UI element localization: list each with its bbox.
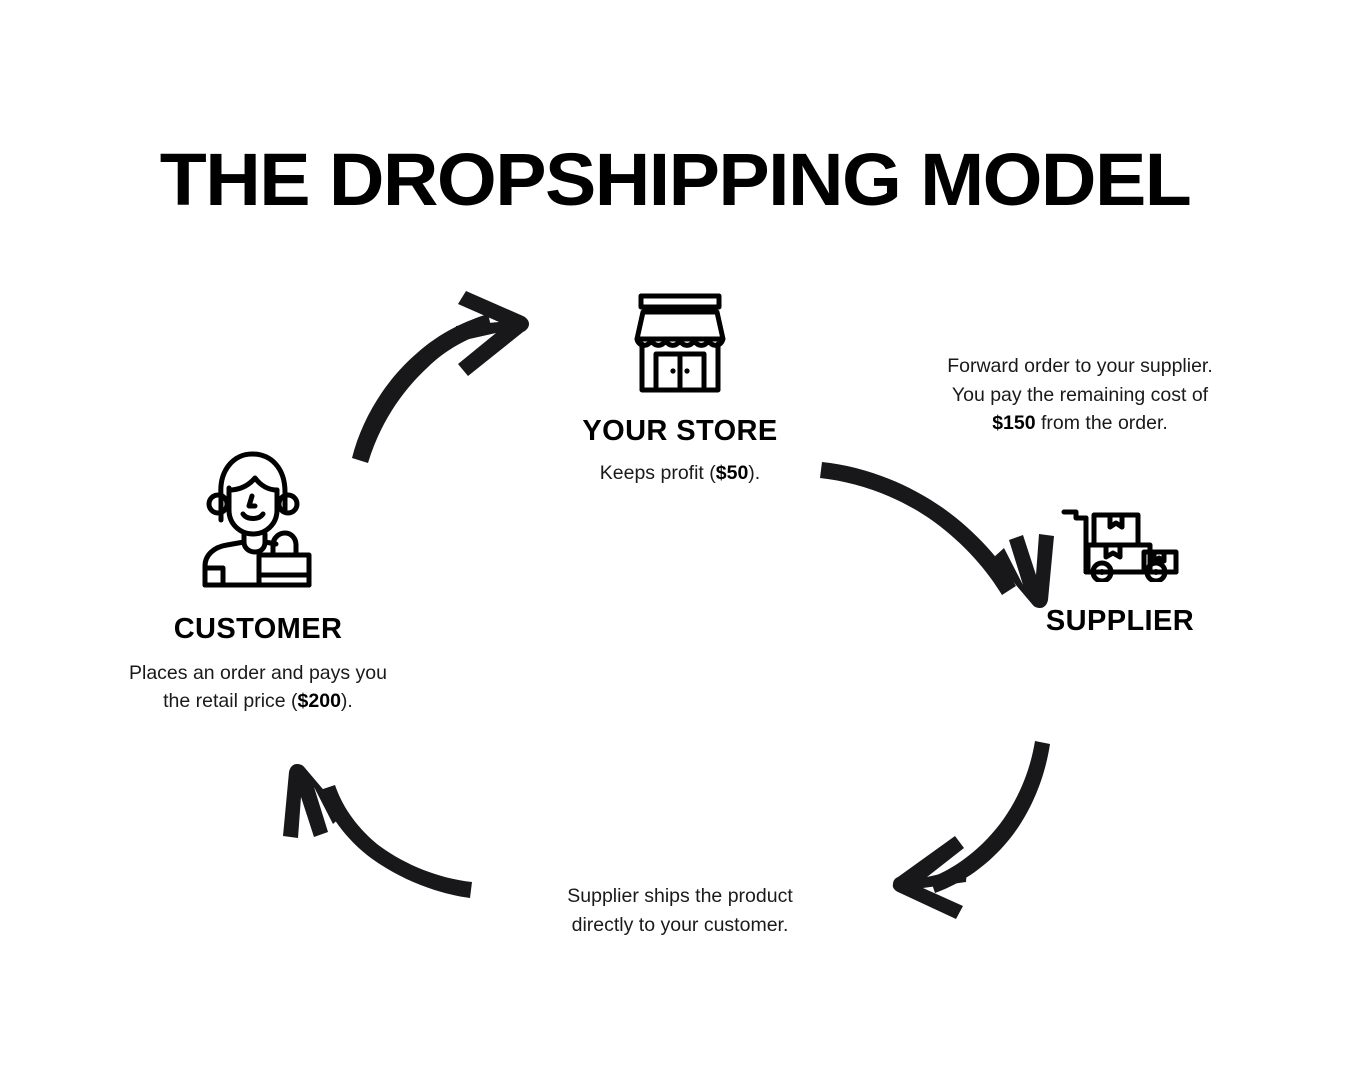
node-supplier: SUPPLIER bbox=[975, 506, 1265, 638]
shipping-note: Supplier ships the productdirectly to yo… bbox=[505, 882, 855, 939]
supplier-note-line1: Forward order to your supplier. bbox=[947, 355, 1213, 377]
store-label: YOUR STORE bbox=[515, 414, 845, 448]
storefront-icon bbox=[630, 292, 730, 394]
store-profit-amount: $50 bbox=[716, 462, 749, 484]
shipping-note-line2: directly to your customer. bbox=[572, 914, 789, 936]
customer-description: Places an order and pays youthe retail p… bbox=[88, 659, 428, 715]
shipping-note-line1: Supplier ships the product bbox=[567, 885, 792, 907]
supplier-label: SUPPLIER bbox=[975, 604, 1265, 638]
node-customer: CUSTOMER Places an order and pays youthe… bbox=[88, 448, 428, 715]
customer-desc-line1: Places an order and pays you bbox=[129, 662, 387, 684]
infographic-canvas: THE DROPSHIPPING MODEL bbox=[0, 0, 1350, 1080]
supplier-note: Forward order to your supplier.You pay t… bbox=[905, 352, 1255, 438]
arrow-supplier-to-shipping bbox=[893, 741, 1050, 919]
customer-desc-suffix: ). bbox=[341, 690, 353, 712]
customer-label: CUSTOMER bbox=[88, 612, 428, 646]
hand-truck-boxes-icon bbox=[1058, 506, 1182, 582]
store-desc-suffix: ). bbox=[748, 462, 760, 484]
arrow-customer-to-store bbox=[352, 291, 529, 463]
supplier-cost-amount: $150 bbox=[992, 412, 1035, 434]
node-your-store: YOUR STORE Keeps profit ($50). bbox=[515, 292, 845, 487]
customer-shopper-icon bbox=[197, 448, 319, 590]
supplier-note-line2: You pay the remaining cost of bbox=[952, 384, 1208, 406]
customer-desc-prefix: the retail price ( bbox=[163, 690, 297, 712]
customer-retail-amount: $200 bbox=[298, 690, 341, 712]
store-description: Keeps profit ($50). bbox=[515, 459, 845, 487]
page-title: THE DROPSHIPPING MODEL bbox=[0, 138, 1350, 222]
store-desc-prefix: Keeps profit ( bbox=[600, 462, 716, 484]
supplier-note-line3-suffix: from the order. bbox=[1036, 412, 1168, 434]
arrow-shipping-to-customer bbox=[283, 764, 472, 898]
